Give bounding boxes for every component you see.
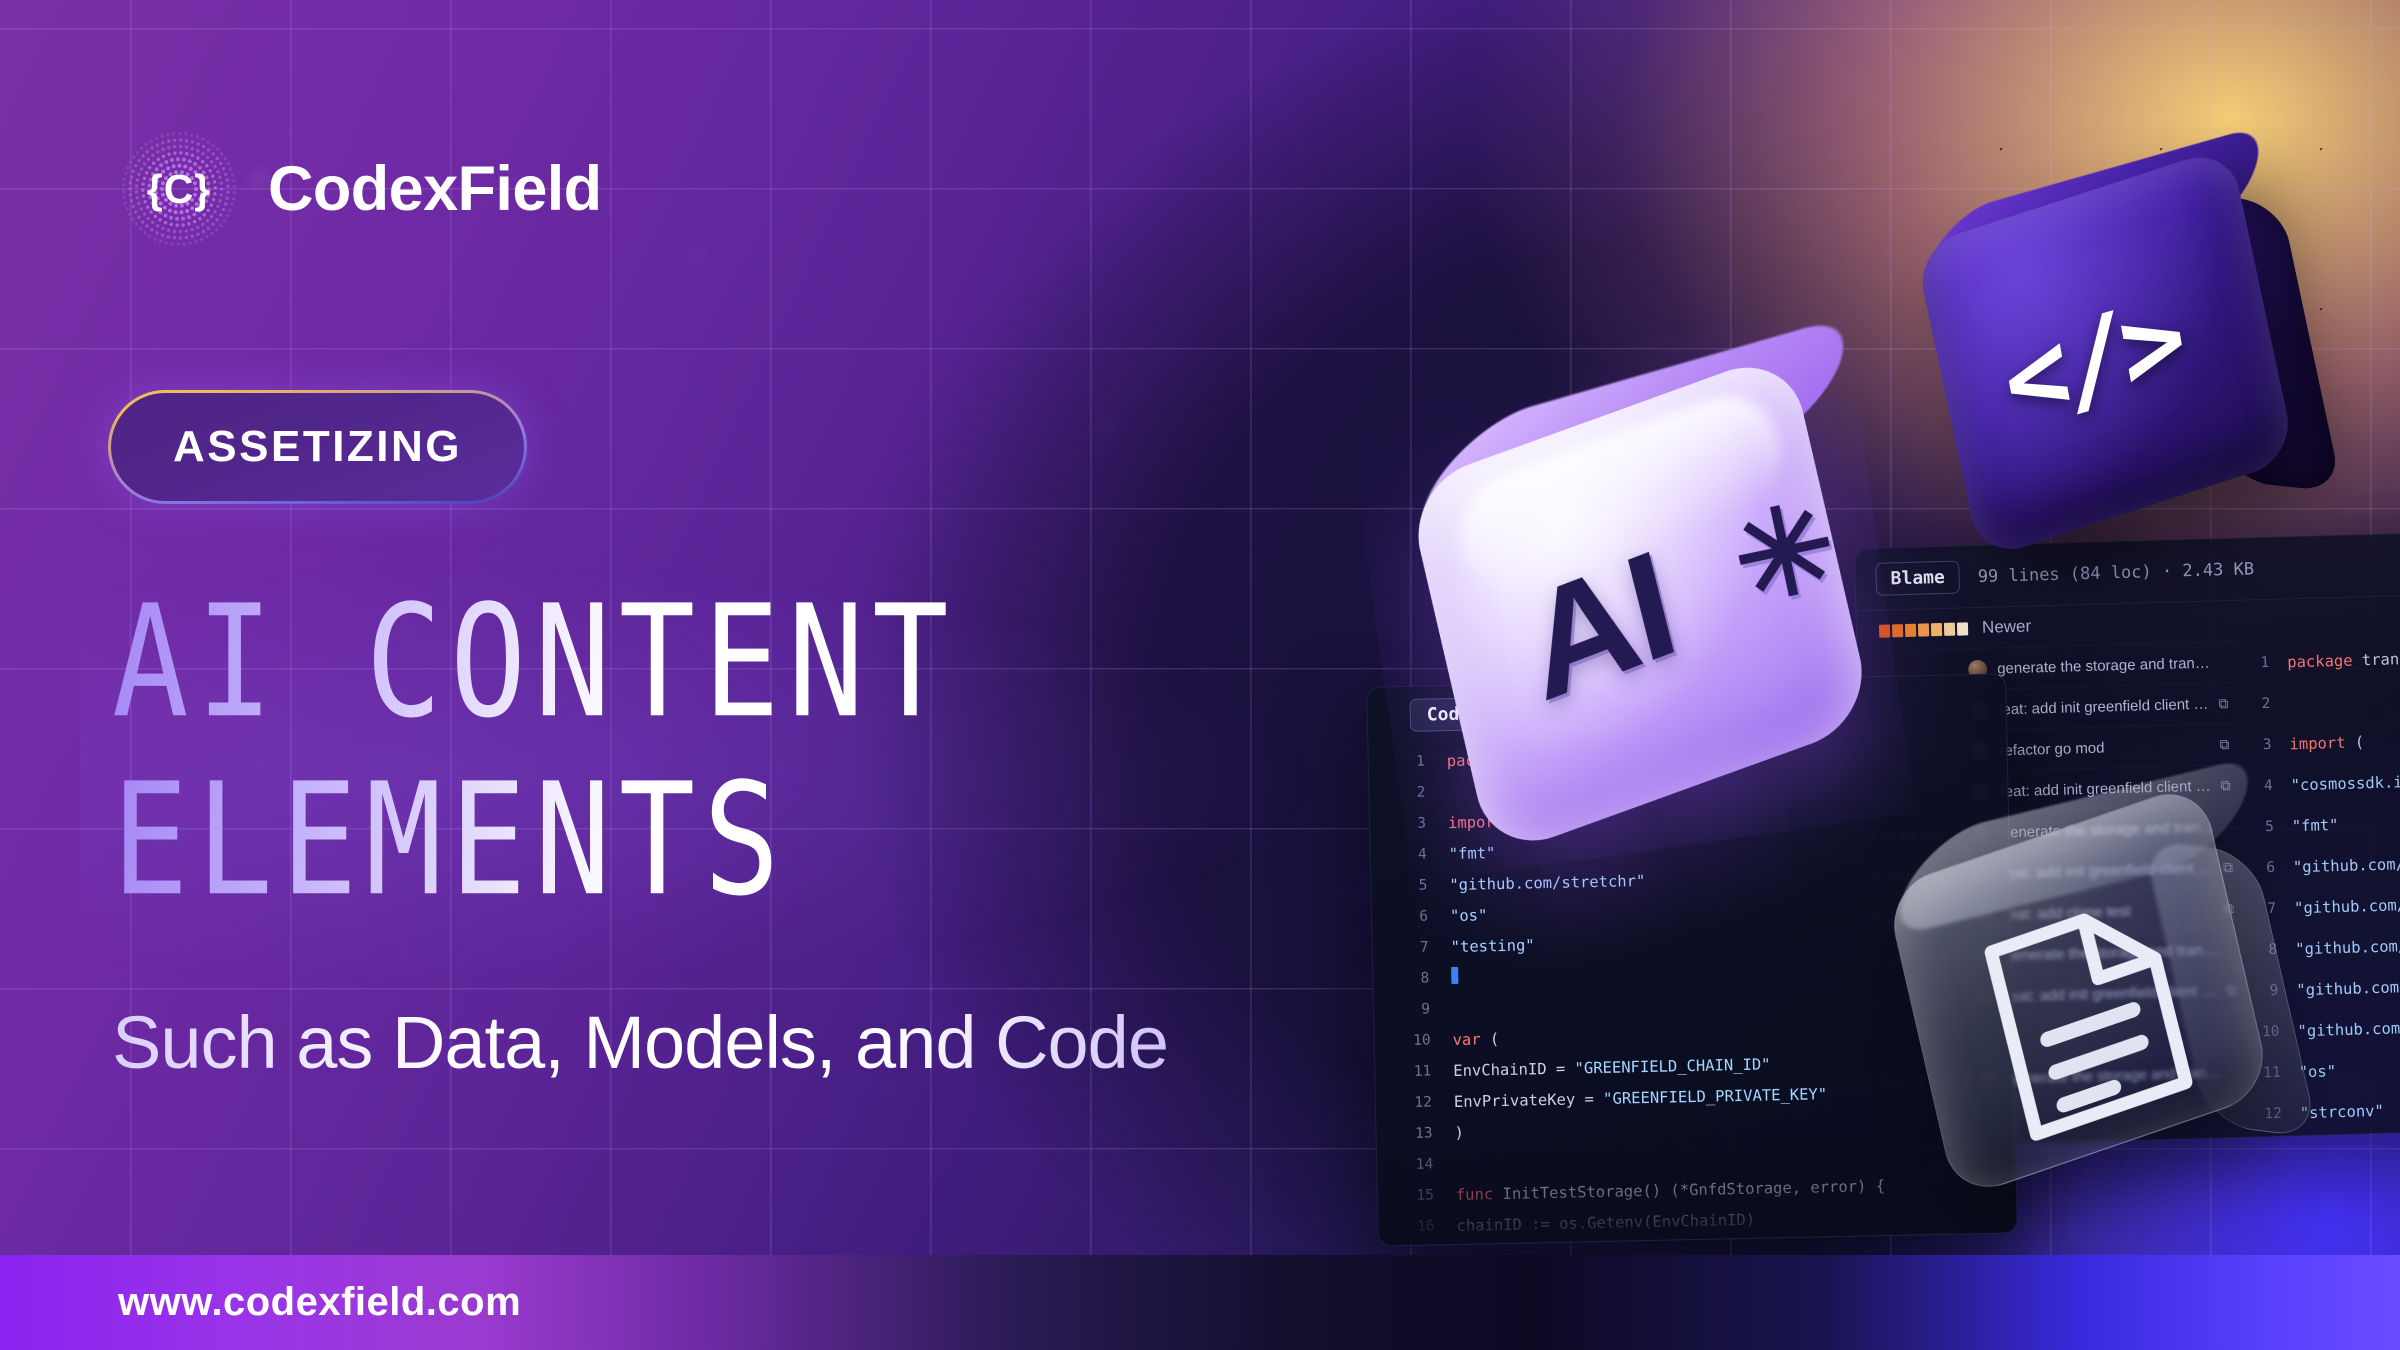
- halftone-brace-c-logo-icon: {C}: [120, 130, 238, 248]
- line-text: package transport: [2287, 648, 2400, 670]
- line-number: 10: [1374, 1032, 1452, 1050]
- copy-icon[interactable]: ⧉: [2219, 736, 2229, 753]
- headline-line-1: AI CONTENT: [112, 575, 1412, 750]
- line-number: 14: [1377, 1156, 1455, 1174]
- line-text: [1451, 967, 1458, 988]
- line-text: if chainID == "" {: [1457, 1244, 1625, 1247]
- line-text: "github.com/codexfield/gltd/storage": [2293, 848, 2400, 875]
- line-number: 9: [1374, 1001, 1452, 1019]
- line-number: 11: [1375, 1063, 1453, 1081]
- text-cursor: [1451, 967, 1458, 984]
- brand-logo[interactable]: {C} CodexField: [120, 130, 602, 248]
- ai-cube: AI ✳: [1370, 318, 1955, 886]
- line-text: "os": [1450, 906, 1488, 925]
- bokeh-particle: [400, 950, 410, 960]
- code-cube: </>: [1863, 109, 2377, 592]
- line-text: ): [1454, 1123, 1464, 1141]
- commit-message: feat: add init greenfield client …: [1998, 695, 2209, 718]
- line-number: 15: [1378, 1186, 1456, 1204]
- copy-icon[interactable]: ⧉: [2218, 695, 2228, 712]
- badge-inner: ASSETIZING: [111, 393, 524, 501]
- brand-name: CodexField: [268, 153, 602, 225]
- line-text: "fmt": [2292, 816, 2339, 835]
- commit-message: generate the storage and tran…: [1997, 654, 2218, 677]
- newer-label: Newer: [1982, 617, 2032, 638]
- headline-line-2: ELEMENTS: [112, 753, 1412, 928]
- headline-block: AI CONTENT ELEMENTS: [112, 575, 1412, 896]
- website-url[interactable]: www.codexfield.com: [118, 1280, 521, 1325]
- commit-message: refactor go mod: [1999, 736, 2210, 759]
- bokeh-particle: [1100, 420, 1114, 434]
- line-number: 7: [1373, 939, 1451, 957]
- heat-cell: [1931, 623, 1942, 636]
- heat-cell: [1957, 622, 1968, 635]
- line-number: 16: [1378, 1217, 1456, 1235]
- badge-label: ASSETIZING: [173, 422, 462, 472]
- bokeh-particle: [690, 250, 702, 262]
- footer-bar: www.codexfield.com: [0, 1255, 2400, 1350]
- line-text: chainID := os.Getenv(EnvChainID): [1456, 1210, 1755, 1234]
- line-text: var (: [1452, 1030, 1499, 1049]
- logo-glyph: {C}: [147, 166, 212, 213]
- line-text: EnvChainID = "GREENFIELD_CHAIN_ID": [1453, 1055, 1771, 1080]
- line-text: EnvPrivateKey = "GREENFIELD_PRIVATE_KEY": [1454, 1085, 1828, 1111]
- line-number: 1: [2239, 654, 2287, 671]
- line-number: 12: [1376, 1094, 1454, 1112]
- line-number: 3: [2241, 736, 2289, 753]
- document-cube: [1851, 758, 2353, 1252]
- line-text: import (: [2289, 733, 2364, 753]
- line-number: 2: [2240, 695, 2288, 712]
- subtitle: Such as Data, Models, and Code: [112, 1000, 1168, 1085]
- line-text: func InitTestStorage() (*GnfdStorage, er…: [1456, 1177, 1886, 1204]
- heat-cell: [1944, 622, 1955, 635]
- promotional-banner: Blame 99 lines (84 loc) · 2.43 KB Newer …: [0, 0, 2400, 1350]
- line-number: 13: [1376, 1125, 1454, 1143]
- assetizing-badge[interactable]: ASSETIZING: [108, 390, 527, 504]
- line-number: 8: [1373, 970, 1451, 988]
- line-text: "testing": [1450, 936, 1534, 956]
- line-text: "cosmossdk.io/errors": [2290, 770, 2400, 793]
